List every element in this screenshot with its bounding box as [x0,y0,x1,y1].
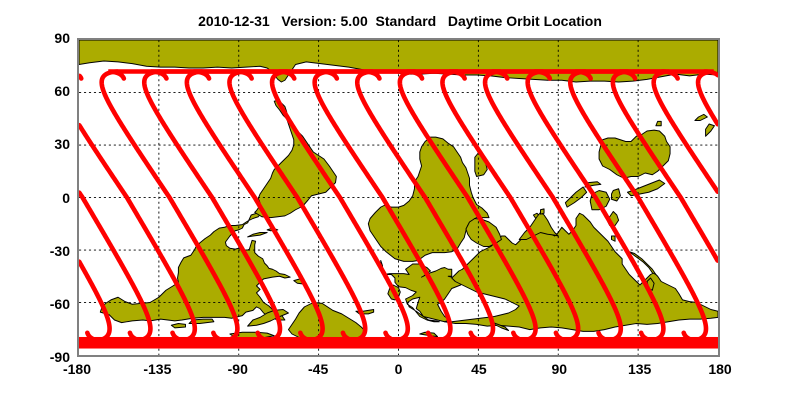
x-tick-label: -135 [143,362,171,376]
world-map-plot [79,40,718,355]
landmass-cuba [248,233,268,237]
y-tick-label: -60 [0,297,70,311]
y-tick-label: -90 [0,350,70,364]
south-pole-track-band [79,339,718,346]
chart-title: 2010-12-31 Version: 5.00 Standard Daytim… [0,13,800,29]
landmass-sulawesi [612,189,621,201]
x-tick-label: 180 [708,362,731,376]
y-tick-label: -30 [0,244,70,258]
landmass-sri-lanka [541,209,545,214]
landmass-north-america [100,212,290,323]
plot-area [77,38,720,357]
x-tick-label: 0 [395,362,403,376]
x-tick-label: -180 [63,362,91,376]
x-tick-label: -90 [228,362,248,376]
orbit-track [80,76,82,79]
y-tick-label: 60 [0,84,70,98]
x-tick-label: 90 [551,362,567,376]
landmass-hainan-taiwan [612,236,616,241]
x-tick-label: 135 [628,362,651,376]
landmass-south-america [255,100,337,217]
y-tick-label: 0 [0,191,70,205]
landmass-banks-island [171,324,185,328]
orbit-location-chart: 2010-12-31 Version: 5.00 Standard Daytim… [0,0,800,400]
y-tick-label: 30 [0,137,70,151]
landmass-tasmania [656,121,661,125]
y-tick-label: 90 [0,31,70,45]
x-tick-label: 45 [471,362,487,376]
x-tick-label: -45 [308,362,328,376]
